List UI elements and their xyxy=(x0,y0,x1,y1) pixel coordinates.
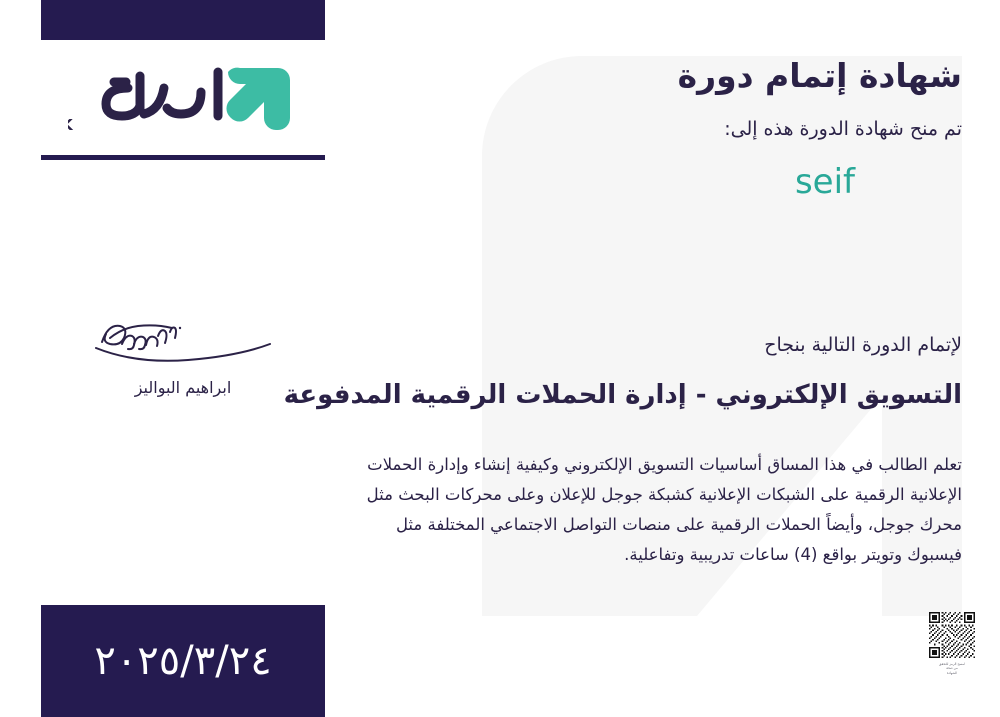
completion-label: لإتمام الدورة التالية بنجاح xyxy=(764,334,962,356)
issue-date-text: ٢٠٢٥/٣/٢٤ xyxy=(94,638,271,684)
certificate-page: EDRAAK ابراهيم البواليز xyxy=(0,0,1000,717)
top-navy-bar xyxy=(41,0,325,40)
verification-block: امسح الرمز للتحقق من صحة الشهادة xyxy=(922,612,982,675)
edraak-latin-wordmark: EDRAAK xyxy=(68,116,76,134)
awarded-to-label: تم منح شهادة الدورة هذه إلى: xyxy=(724,118,962,140)
verification-qr-code[interactable] xyxy=(929,612,975,658)
course-description: تعلم الطالب في هذا المساق أساسيات التسوي… xyxy=(340,450,962,570)
edraak-logo: EDRAAK xyxy=(41,52,325,144)
issue-date-badge: ٢٠٢٥/٣/٢٤ xyxy=(41,605,325,717)
qr-caption-line-3: الشهادة xyxy=(922,671,982,675)
edraak-arrow-icon xyxy=(226,68,290,130)
qr-caption: امسح الرمز للتحقق من صحة الشهادة xyxy=(922,662,982,675)
right-column: شهادة إتمام دورة تم منح شهادة الدورة هذه… xyxy=(300,0,1000,717)
logo-divider-rule xyxy=(41,155,325,160)
signer-name: ابراهيم البواليز xyxy=(41,378,325,397)
signature-block: ابراهيم البواليز xyxy=(41,312,325,397)
course-title: التسويق الإلكتروني - إدارة الحملات الرقم… xyxy=(284,380,962,410)
handwritten-signature-icon xyxy=(88,312,278,364)
certificate-title: شهادة إتمام دورة xyxy=(678,56,962,95)
recipient-name: seif xyxy=(795,162,855,202)
